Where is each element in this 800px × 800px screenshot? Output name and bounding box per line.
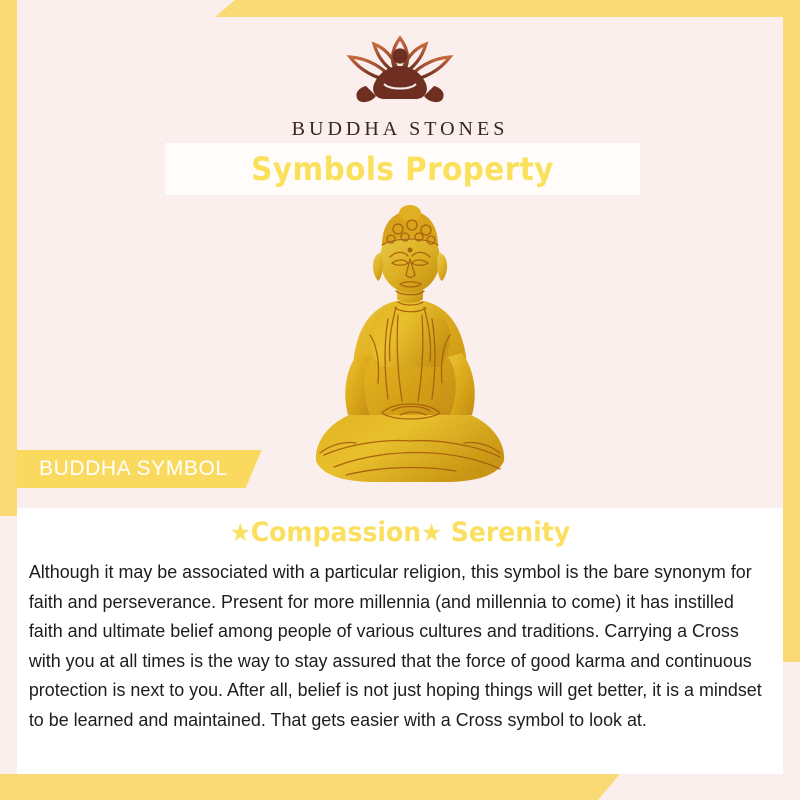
golden-seated-buddha-statue-icon [300, 203, 520, 488]
frame-accent-top [215, 0, 800, 17]
brand-wordmark: BUDDHA STONES [0, 118, 800, 141]
page-title: Symbols Property [251, 150, 554, 188]
headline-word-compassion: Compassion [251, 517, 421, 548]
star-icon-left: ★ [230, 518, 251, 547]
content-panel: ★Compassion★ Serenity Although it may be… [17, 508, 783, 774]
poster-canvas: BUDDHA STONES Symbols Property [0, 0, 800, 800]
content-headline: ★Compassion★ Serenity [44, 508, 756, 548]
title-banner: Symbols Property [165, 143, 640, 195]
lotus-meditation-figure-icon [310, 24, 490, 114]
category-ribbon-label: BUDDHA SYMBOL [39, 457, 228, 481]
headline-word-serenity: Serenity [451, 517, 570, 548]
category-ribbon: BUDDHA SYMBOL [17, 450, 262, 488]
buddha-statue-image [300, 203, 520, 488]
star-icon-right: ★ [421, 518, 442, 547]
brand-header: BUDDHA STONES [0, 24, 800, 141]
frame-accent-bottom [0, 774, 620, 800]
content-paragraph: Although it may be associated with a par… [17, 548, 772, 735]
